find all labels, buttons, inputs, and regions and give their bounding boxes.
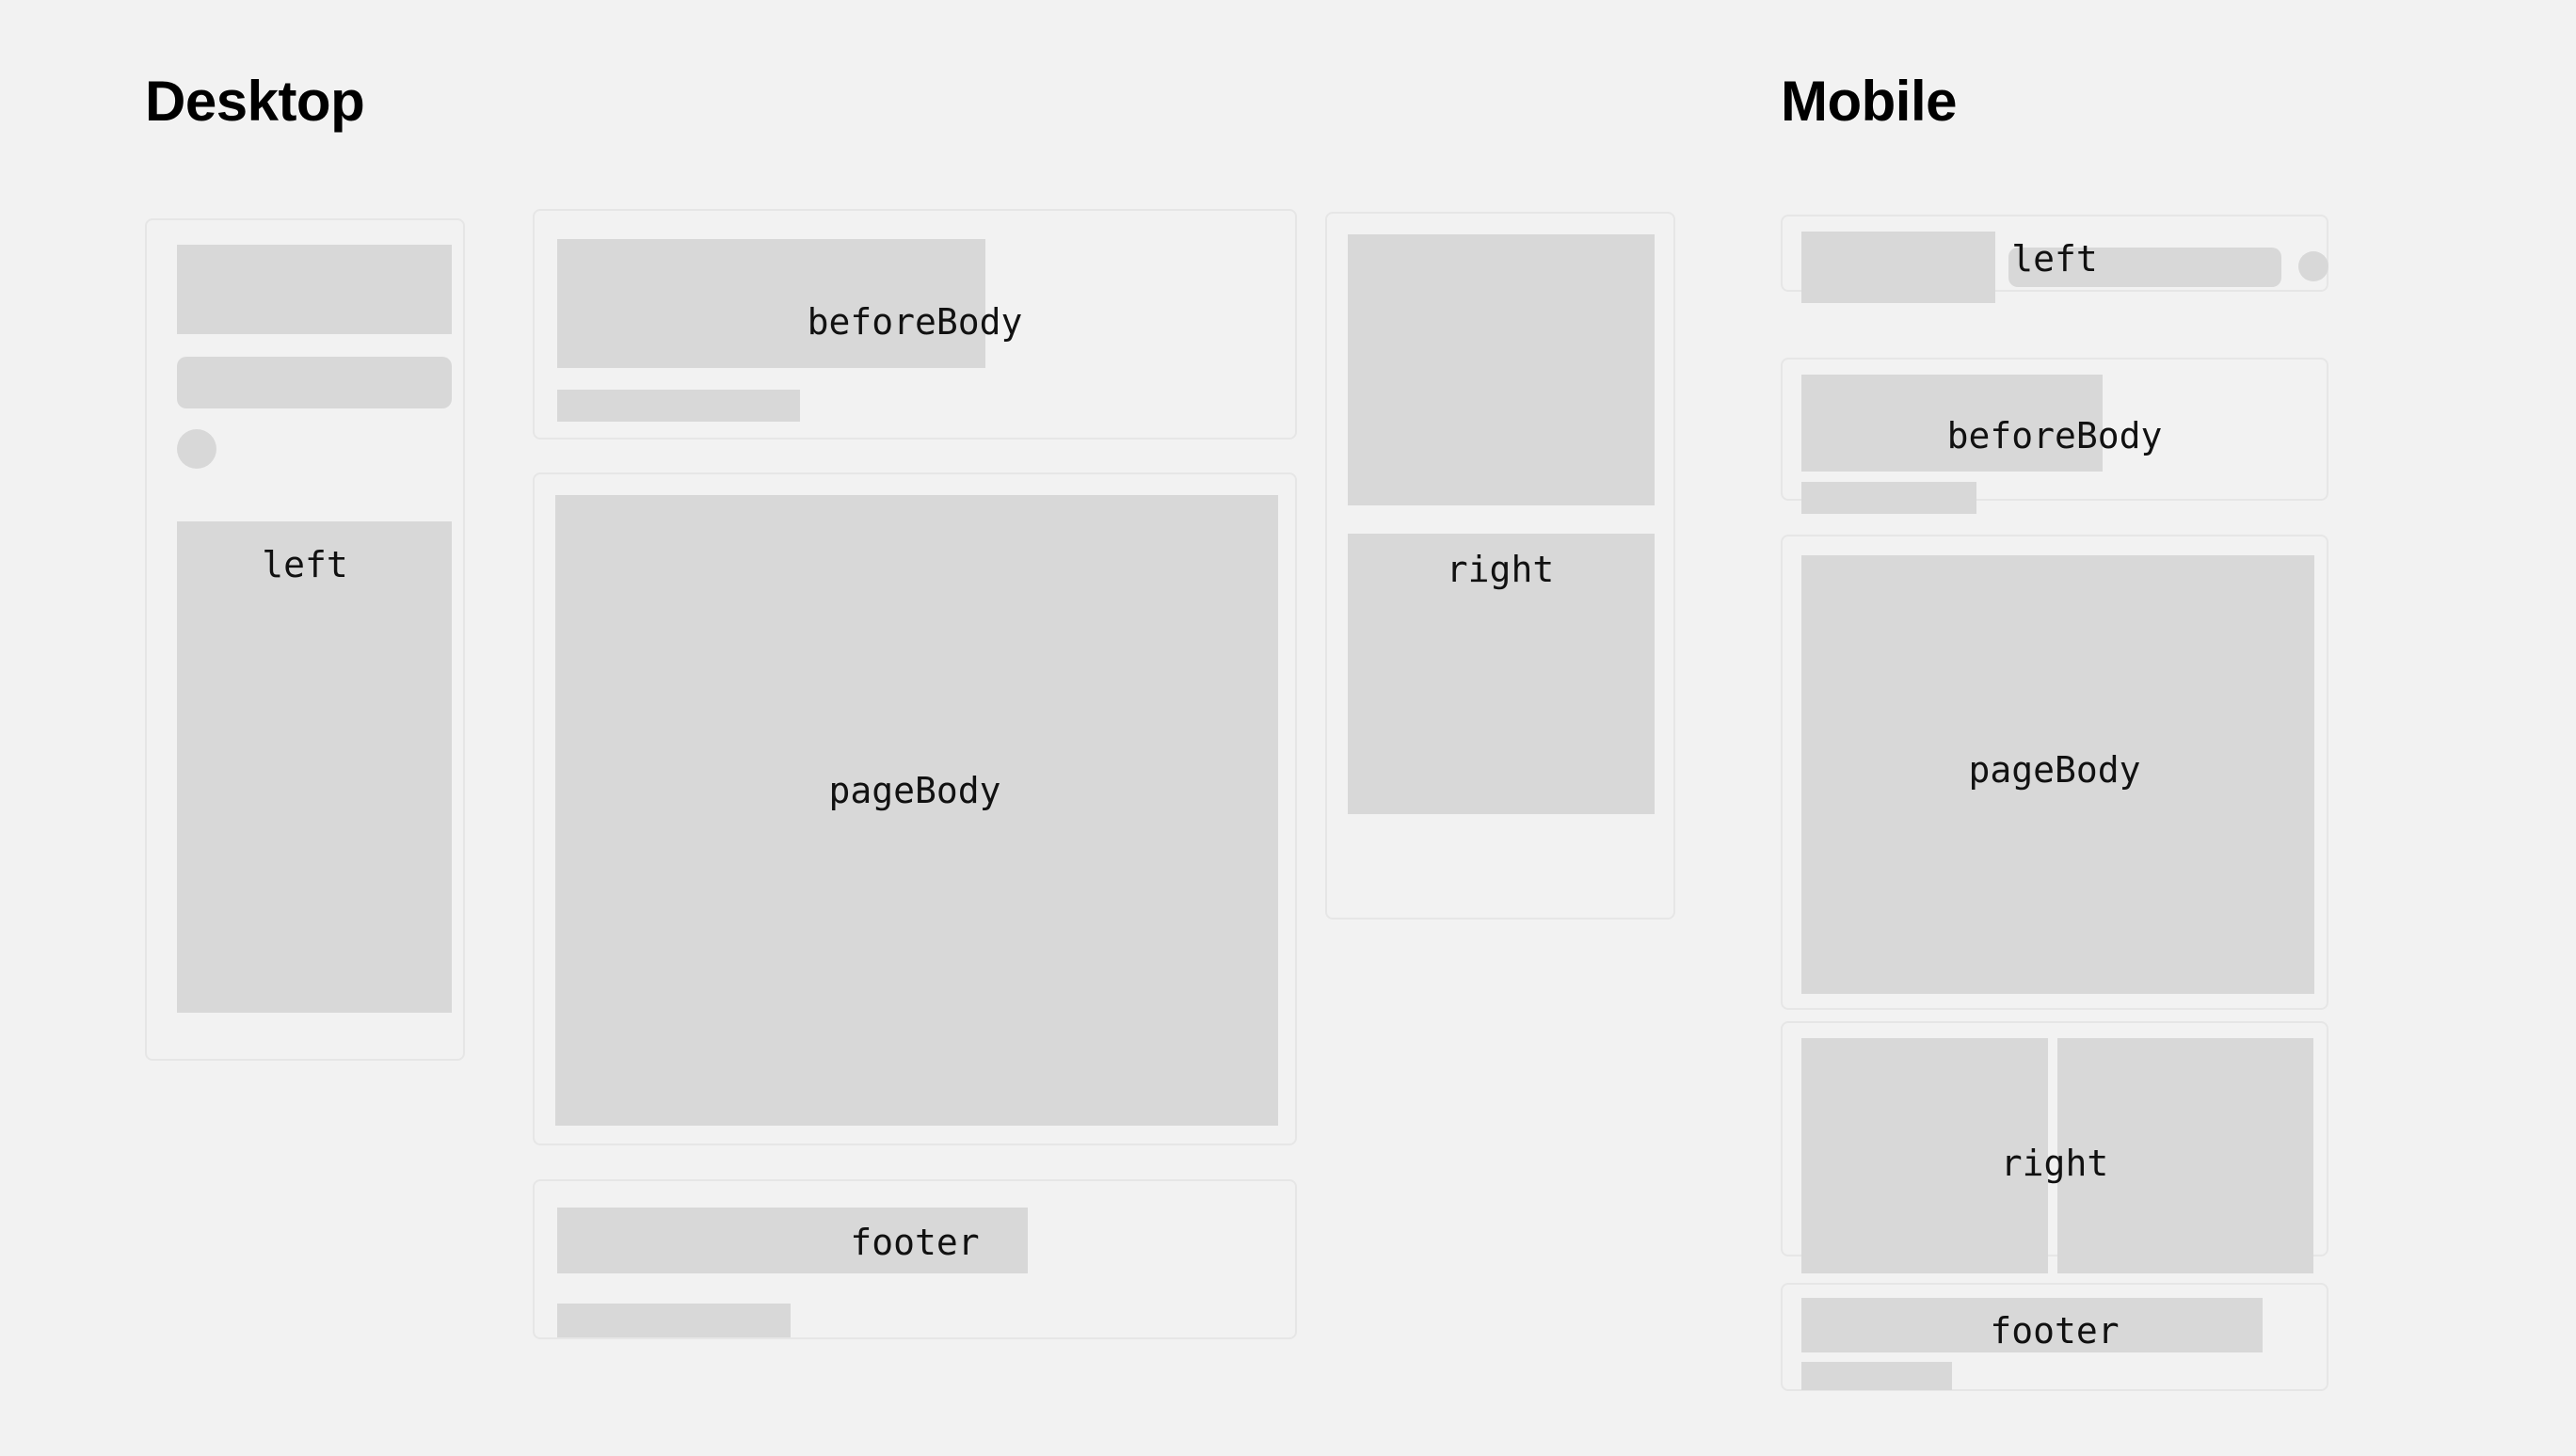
skeleton-bar: [1801, 1362, 1952, 1390]
skeleton-pill: [177, 357, 452, 408]
mobile-footer-label: footer: [1990, 1313, 2119, 1349]
skeleton-block: [177, 245, 452, 334]
desktop-pagebody-label: pageBody: [828, 773, 1000, 808]
wireframe-stage: Desktop Mobile left beforeBody pageBody …: [0, 0, 2576, 1456]
desktop-footer-label: footer: [850, 1224, 979, 1260]
desktop-column-title: Desktop: [145, 73, 364, 130]
desktop-beforebody-label: beforeBody: [808, 304, 1023, 340]
skeleton-block: [1348, 234, 1655, 505]
skeleton-bar: [1801, 482, 1976, 514]
mobile-pagebody-label: pageBody: [1968, 752, 2140, 788]
skeleton-bar: [557, 390, 800, 422]
desktop-left-label: left: [262, 547, 348, 583]
desktop-right-label: right: [1447, 552, 1554, 587]
skeleton-avatar: [2298, 251, 2328, 281]
skeleton-avatar: [177, 429, 216, 469]
mobile-right-label: right: [2001, 1145, 2108, 1181]
mobile-right-panel[interactable]: [1781, 1021, 2328, 1256]
skeleton-bar: [557, 1304, 791, 1337]
skeleton-block: [1801, 232, 1995, 303]
mobile-left-label: left: [2011, 241, 2098, 277]
mobile-column-title: Mobile: [1781, 73, 1957, 130]
skeleton-block: [177, 521, 452, 1013]
mobile-beforebody-label: beforeBody: [1947, 418, 2163, 454]
desktop-left-panel[interactable]: [145, 218, 465, 1061]
